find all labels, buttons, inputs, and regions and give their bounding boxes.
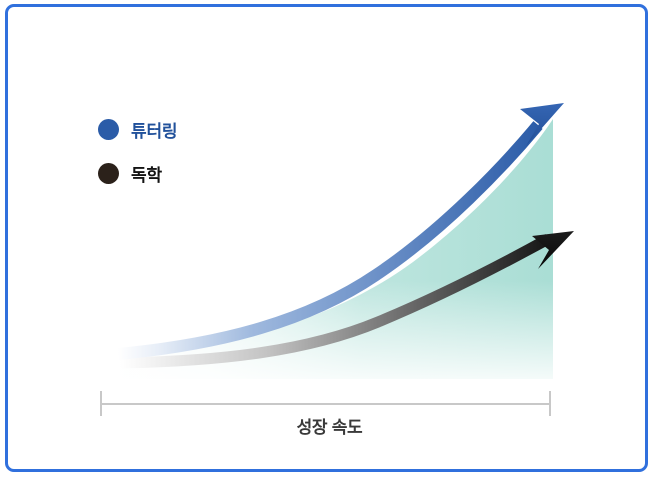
chart-card: 튜터링 독학 성장 속도 [5, 4, 648, 472]
axis-caption: 성장 속도 [8, 413, 651, 438]
growth-curves-svg [8, 7, 651, 475]
legend-item-self-study: 독학 [98, 155, 288, 191]
circle-dot-icon [98, 163, 119, 184]
circle-dot-icon [98, 119, 119, 140]
legend-item-tutoring: 튜터링 [98, 111, 288, 147]
chart-legend: 튜터링 독학 [98, 111, 288, 199]
legend-item-label: 튜터링 [131, 117, 177, 142]
plot-area: 튜터링 독학 성장 속도 [8, 7, 651, 475]
legend-item-label: 독학 [131, 161, 162, 186]
